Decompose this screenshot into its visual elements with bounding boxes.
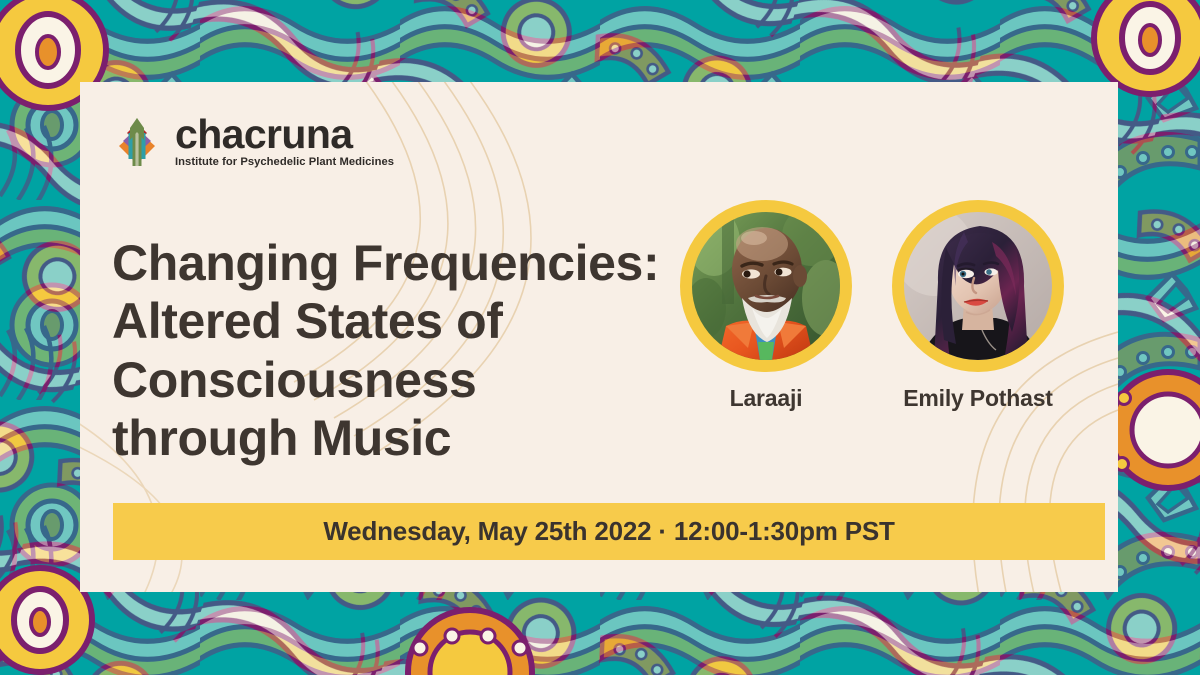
speaker-laraaji[interactable]: Laraaji	[680, 200, 852, 412]
speakers-list: Laraaji	[680, 200, 1100, 412]
speaker-name: Emily Pothast	[892, 385, 1064, 412]
date-banner: Wednesday, May 25th 2022 · 12:00-1:30pm …	[113, 503, 1105, 560]
logo-tagline: Institute for Psychedelic Plant Medicine…	[175, 157, 394, 168]
date-text: Wednesday, May 25th 2022 · 12:00-1:30pm …	[323, 516, 894, 547]
event-poster: chacruna Institute for Psychedelic Plant…	[0, 0, 1200, 675]
portrait-ring	[892, 200, 1064, 372]
portrait-ring	[680, 200, 852, 372]
chacruna-leaf-logo-icon	[111, 116, 163, 168]
speaker-emily-pothast[interactable]: Emily Pothast	[892, 200, 1064, 412]
speaker-name: Laraaji	[680, 385, 852, 412]
portrait-laraaji	[692, 212, 840, 360]
chacruna-logo[interactable]: chacruna Institute for Psychedelic Plant…	[111, 115, 394, 169]
event-title: Changing Frequencies: Altered States of …	[112, 234, 692, 468]
dotted-sunburst-right	[1110, 372, 1200, 488]
mandala-bottom-left	[0, 568, 92, 672]
mandala-top-right	[1094, 0, 1200, 94]
content-card: chacruna Institute for Psychedelic Plant…	[80, 82, 1118, 592]
logo-wordmark: chacruna	[175, 115, 394, 154]
portrait-emily-pothast	[904, 212, 1052, 360]
